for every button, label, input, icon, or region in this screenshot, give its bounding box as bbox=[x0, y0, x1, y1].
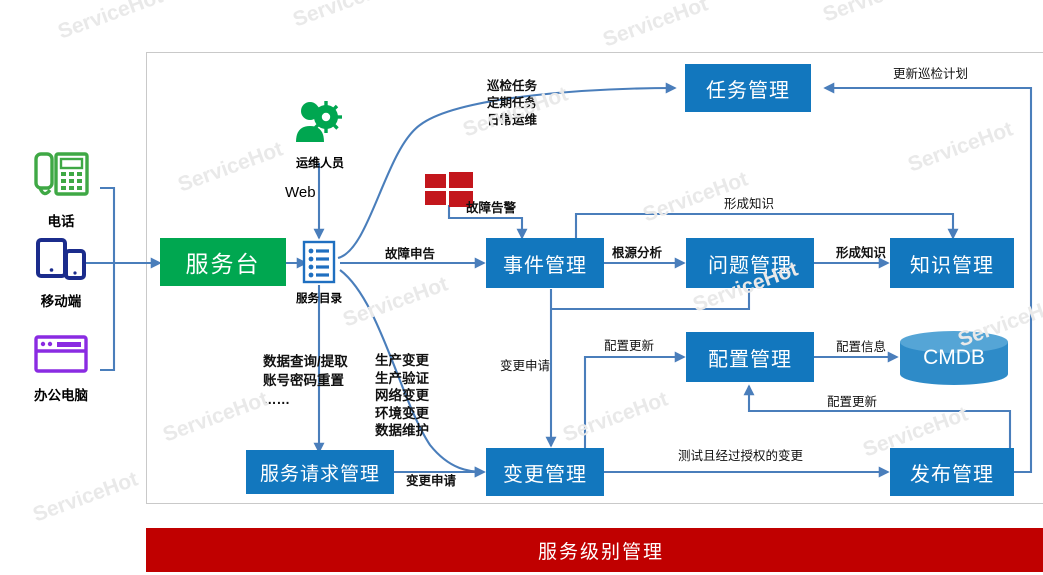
edge-label-config-info: 配置信息 bbox=[836, 339, 886, 355]
watermark: ServiceHot bbox=[820, 0, 931, 28]
node-release-management[interactable]: 发布管理 bbox=[890, 448, 1014, 496]
node-service-request-management[interactable]: 服务请求管理 bbox=[246, 450, 394, 494]
edge-label-change-type-2: 生产验证 bbox=[375, 370, 429, 388]
ops-staff: 运维人员 bbox=[284, 100, 356, 171]
node-servicedesk[interactable]: 服务台 bbox=[160, 238, 286, 286]
node-knowledge-management-label: 知识管理 bbox=[910, 249, 994, 278]
edge-label-task-input-3: 日常运维 bbox=[487, 112, 537, 129]
edge-label-change-request-mid: 变更申请 bbox=[500, 358, 550, 374]
node-problem-management[interactable]: 问题管理 bbox=[686, 238, 814, 288]
node-incident-management-label: 事件管理 bbox=[503, 249, 587, 278]
node-servicedesk-label: 服务台 bbox=[186, 245, 261, 279]
edge-label-change-type-1: 生产变更 bbox=[375, 352, 429, 370]
node-release-management-label: 发布管理 bbox=[910, 458, 994, 487]
edge-label-request-type-2: 账号密码重置 bbox=[263, 371, 348, 390]
watermark: ServiceHot bbox=[290, 0, 401, 33]
channel-phone-label: 电话 bbox=[22, 210, 100, 230]
service-catalog-list-icon bbox=[302, 240, 336, 284]
web-channel-label: Web bbox=[285, 184, 316, 201]
channel-mobile-label: 移动端 bbox=[22, 290, 100, 310]
desk-phone-icon bbox=[30, 150, 92, 202]
node-problem-management-label: 问题管理 bbox=[708, 249, 792, 278]
service-level-management-banner[interactable]: 服务级别管理 bbox=[146, 528, 1043, 572]
edge-label-task-input-2: 定期任务 bbox=[487, 95, 537, 112]
channel-phone[interactable]: 电话 bbox=[22, 150, 100, 230]
node-configuration-management-label: 配置管理 bbox=[708, 343, 792, 372]
edge-label-request-types: 数据查询/提取 账号密码重置 …… bbox=[263, 352, 348, 409]
node-cmdb-label: CMDB bbox=[899, 331, 1009, 385]
watermark: ServiceHot bbox=[600, 0, 711, 53]
service-level-management-label: 服务级别管理 bbox=[538, 537, 664, 564]
edge-label-update-inspection-plan: 更新巡检计划 bbox=[893, 66, 968, 82]
ops-staff-gear-icon bbox=[293, 100, 347, 146]
edge-label-config-update-left: 配置更新 bbox=[604, 338, 654, 354]
edge-label-request-type-3: …… bbox=[263, 390, 348, 409]
node-service-request-management-label: 服务请求管理 bbox=[260, 459, 380, 486]
edge-label-change-type-4: 环境变更 bbox=[375, 405, 429, 423]
node-task-management-label: 任务管理 bbox=[706, 74, 790, 103]
channel-mobile[interactable]: 移动端 bbox=[22, 238, 100, 310]
node-change-management[interactable]: 变更管理 bbox=[486, 448, 604, 496]
channel-desktop[interactable]: 办公电脑 bbox=[22, 332, 100, 404]
edge-label-change-types: 生产变更 生产验证 网络变更 环境变更 数据维护 bbox=[375, 352, 429, 440]
edge-label-form-knowledge-incident: 形成知识 bbox=[724, 196, 774, 212]
ops-staff-label: 运维人员 bbox=[284, 154, 356, 171]
edge-label-change-type-3: 网络变更 bbox=[375, 387, 429, 405]
node-incident-management[interactable]: 事件管理 bbox=[486, 238, 604, 288]
edge-label-fault-alarm: 故障告警 bbox=[466, 200, 516, 216]
node-task-management[interactable]: 任务管理 bbox=[685, 64, 811, 112]
office-computer-icon bbox=[30, 332, 92, 376]
node-change-management-label: 变更管理 bbox=[503, 458, 587, 487]
edge-label-task-inputs: 巡检任务 定期任务 日常运维 bbox=[487, 78, 537, 129]
node-knowledge-management[interactable]: 知识管理 bbox=[890, 238, 1014, 288]
edge-label-root-cause-analysis: 根源分析 bbox=[612, 245, 662, 261]
diagram-canvas: ServiceHot ServiceHot ServiceHot Service… bbox=[0, 0, 1043, 575]
edge-label-fault-report: 故障申告 bbox=[385, 246, 435, 262]
edge-label-authorized-change: 测试且经过授权的变更 bbox=[678, 448, 803, 464]
edge-label-request-type-1: 数据查询/提取 bbox=[263, 352, 348, 371]
mobile-devices-icon bbox=[30, 238, 92, 282]
watermark: ServiceHot bbox=[55, 0, 166, 45]
node-configuration-management[interactable]: 配置管理 bbox=[686, 332, 814, 382]
service-catalog[interactable]: 服务目录 bbox=[287, 240, 351, 306]
edge-label-task-input-1: 巡检任务 bbox=[487, 78, 537, 95]
edge-label-config-update-bottom: 配置更新 bbox=[827, 394, 877, 410]
channel-desktop-label: 办公电脑 bbox=[22, 384, 100, 404]
edge-label-form-knowledge-problem: 形成知识 bbox=[836, 245, 886, 261]
node-cmdb[interactable]: CMDB bbox=[899, 331, 1009, 385]
service-catalog-label: 服务目录 bbox=[287, 290, 351, 306]
edge-label-change-request-bottom: 变更申请 bbox=[406, 473, 456, 489]
watermark: ServiceHot bbox=[30, 467, 141, 527]
edge-label-change-type-5: 数据维护 bbox=[375, 422, 429, 440]
